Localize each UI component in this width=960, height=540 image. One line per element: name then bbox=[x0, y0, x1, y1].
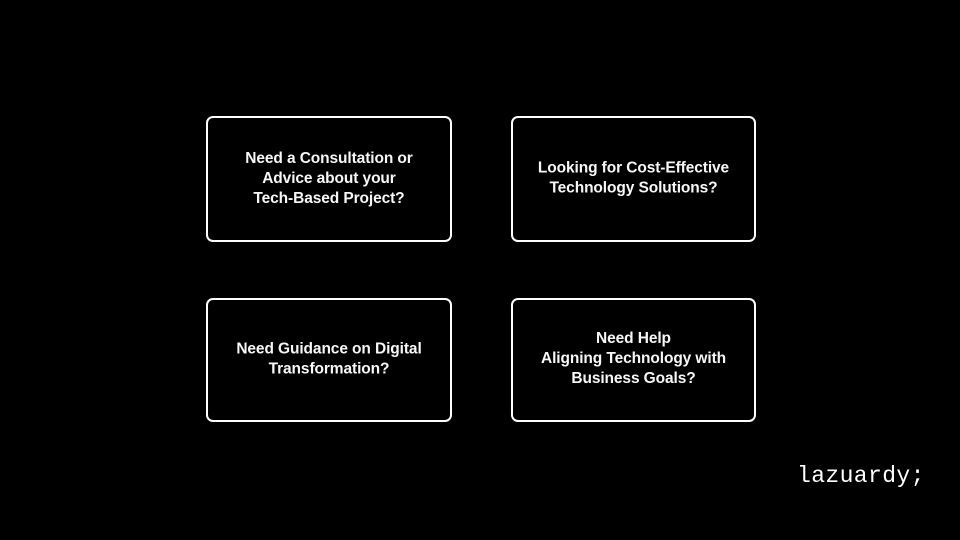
brand-wordmark: lazuardy; bbox=[797, 462, 925, 490]
card-digital-transformation[interactable]: Need Guidance on Digital Transformation? bbox=[206, 298, 452, 422]
card-cost-effective-solutions[interactable]: Looking for Cost-Effective Technology So… bbox=[511, 116, 756, 242]
card-digital-transformation-text: Need Guidance on Digital Transformation? bbox=[228, 340, 429, 380]
slide-canvas: Need a Consultation or Advice about your… bbox=[0, 0, 960, 540]
card-aligning-technology-text: Need Help Aligning Technology with Busin… bbox=[533, 329, 734, 388]
card-cost-effective-solutions-text: Looking for Cost-Effective Technology So… bbox=[530, 159, 737, 199]
card-aligning-technology[interactable]: Need Help Aligning Technology with Busin… bbox=[511, 298, 756, 422]
card-consultation-advice-text: Need a Consultation or Advice about your… bbox=[237, 149, 420, 208]
card-consultation-advice[interactable]: Need a Consultation or Advice about your… bbox=[206, 116, 452, 242]
